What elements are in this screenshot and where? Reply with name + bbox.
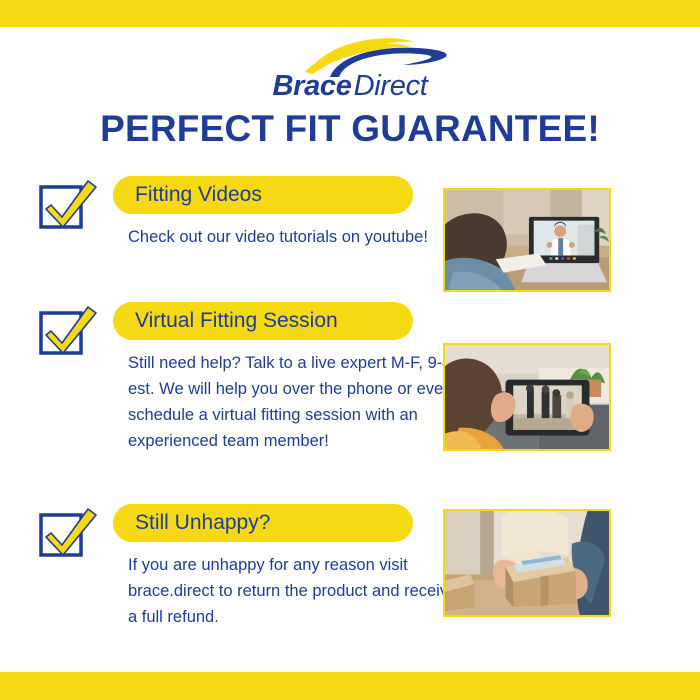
section-body-text: Check out our video tutorials on youtube…: [128, 224, 466, 250]
photo-telehealth-laptop-image: [445, 190, 609, 290]
section-body-text: If you are unhappy for any reason visit …: [128, 552, 466, 630]
checkbox-checked-icon: [38, 304, 100, 356]
checkbox-checked-icon: [38, 178, 100, 230]
pill-fitting-videos: Fitting Videos: [113, 176, 413, 214]
pill-label: Virtual Fitting Session: [135, 309, 338, 333]
bottom-yellow-band: [0, 672, 700, 700]
page-title: PERFECT FIT GUARANTEE!: [0, 108, 700, 150]
section-body-text: Still need help? Talk to a live expert M…: [128, 350, 466, 454]
pill-virtual-fitting-session: Virtual Fitting Session: [113, 302, 413, 340]
photo-tablet-video-call-image: [445, 345, 609, 449]
brand-logo: BraceDirect: [0, 36, 700, 102]
checkbox-checked-icon: [38, 506, 100, 558]
photo-tablet-video-call: [443, 343, 611, 451]
swoosh-icon: [283, 36, 473, 78]
top-yellow-band: [0, 0, 700, 27]
photo-telehealth-laptop: [443, 188, 611, 292]
pill-still-unhappy: Still Unhappy?: [113, 504, 413, 542]
pill-label: Still Unhappy?: [135, 511, 270, 535]
photo-return-package: [443, 509, 611, 617]
photo-return-package-image: [445, 511, 609, 615]
pill-label: Fitting Videos: [135, 183, 262, 207]
